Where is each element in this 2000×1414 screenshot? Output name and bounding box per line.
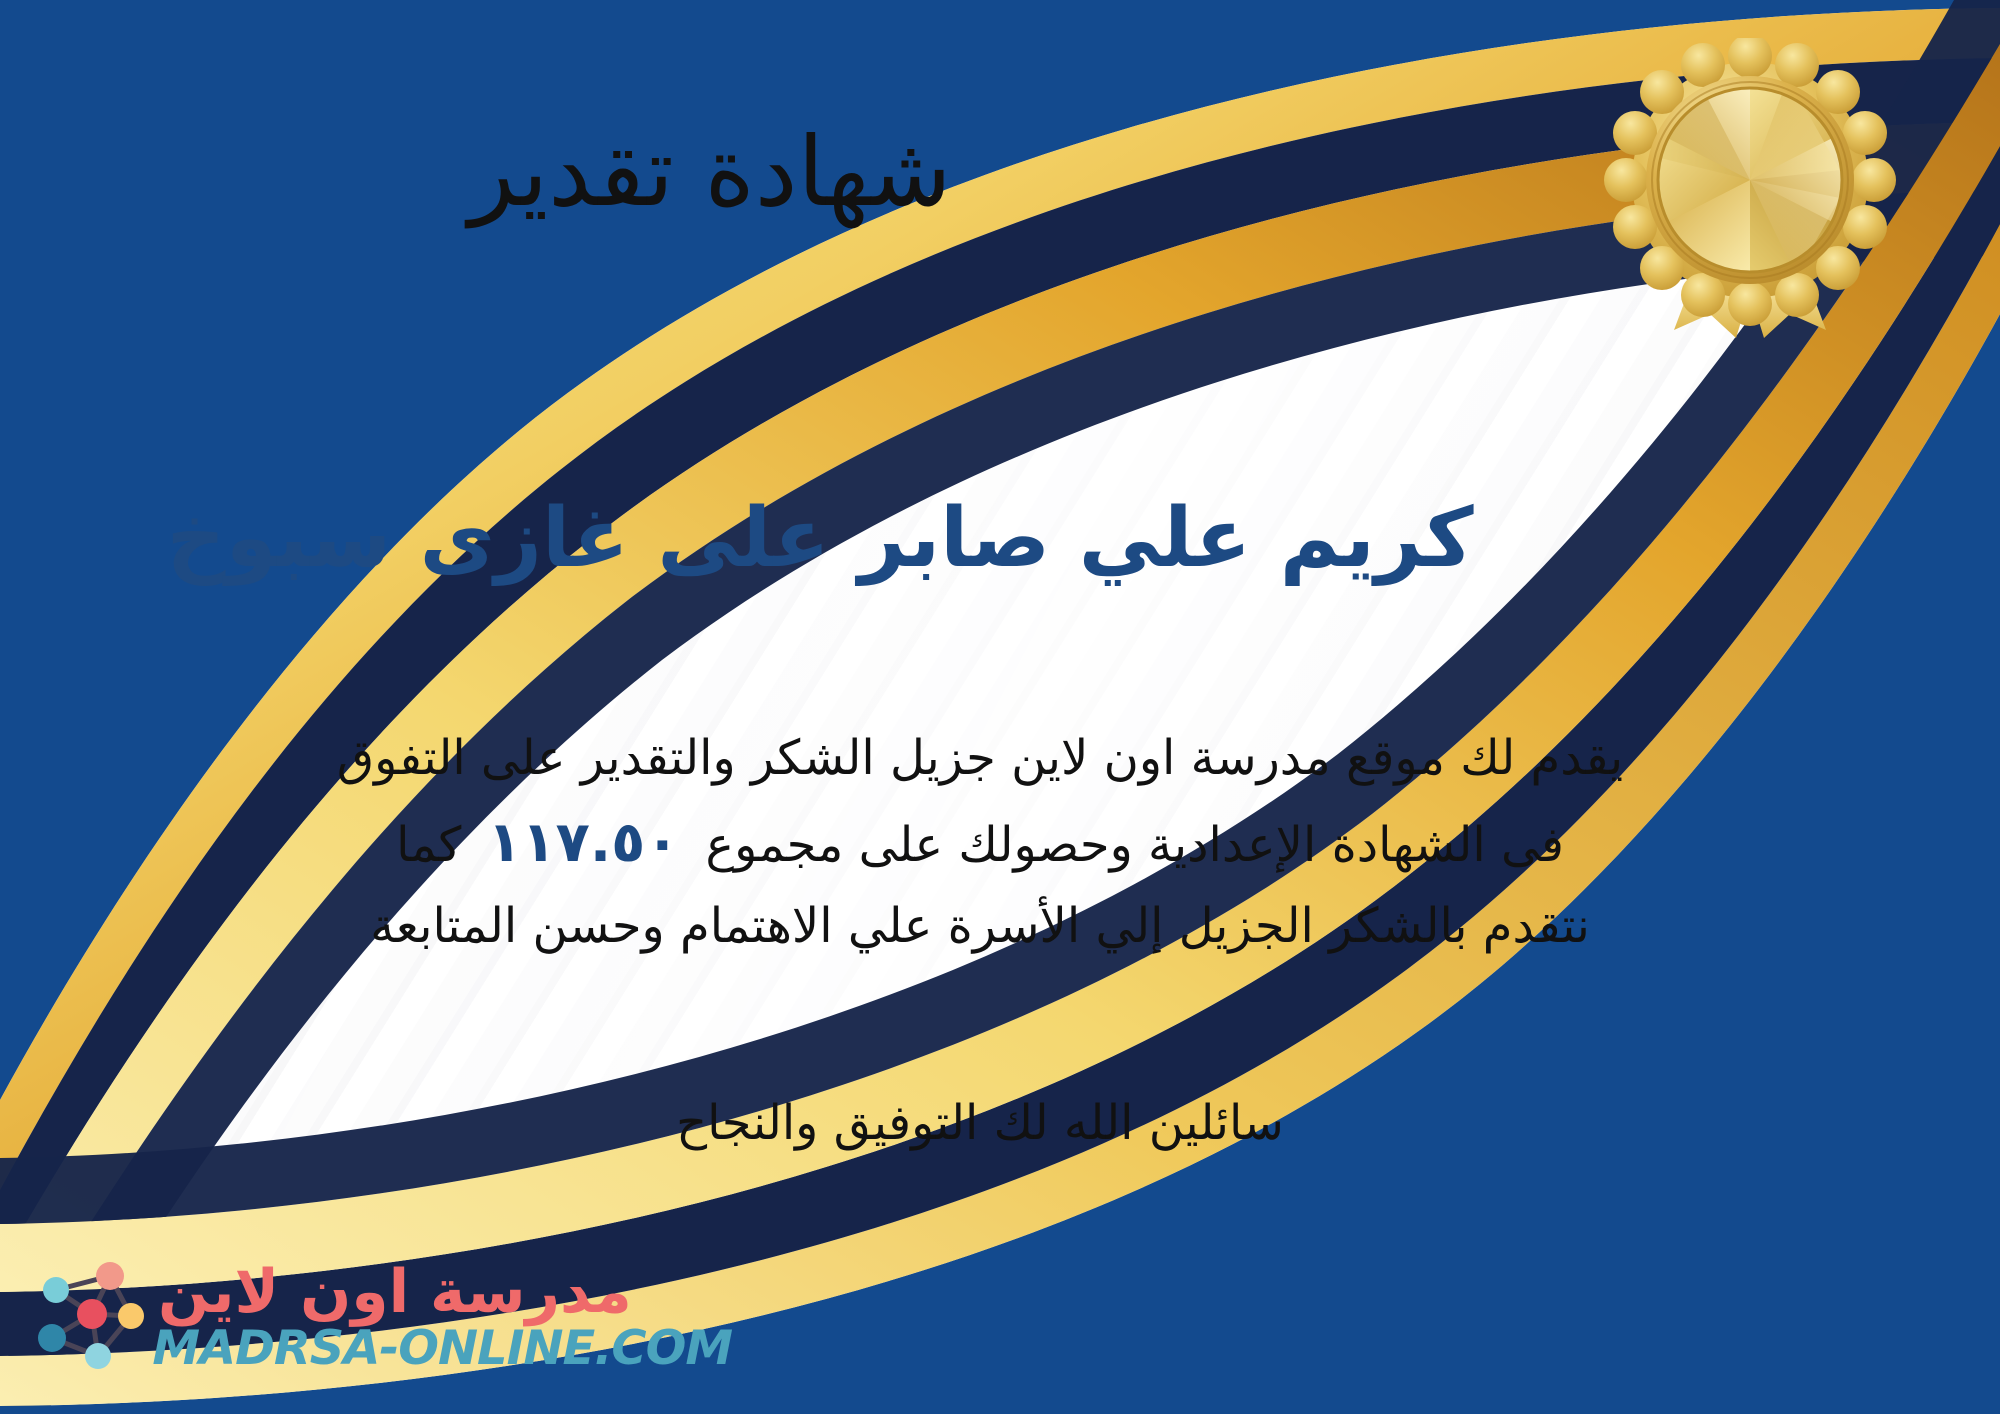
body-line-3: نتقدم بالشكر الجزيل إلي الأسرة علي الاهت… (40, 888, 1920, 966)
certificate-body: يقدم لك موقع مدرسة اون لاين جزيل الشكر و… (40, 720, 1920, 966)
body-line-1: يقدم لك موقع مدرسة اون لاين جزيل الشكر و… (40, 720, 1920, 798)
body-line-2-suffix: كما (396, 817, 461, 873)
logo-website-url: MADRSA-ONLINE.COM (152, 1324, 732, 1373)
site-logo[interactable]: مدرسة اون لاين MADRSA-ONLINE.COM (28, 1242, 548, 1392)
body-line-2: فى الشهادة الإعدادية وحصولك على مجموع١١٧… (40, 798, 1920, 889)
certificate-content: شهادة تقدير كريم علي صابر على غازى سبوخ … (0, 0, 2000, 1414)
logo-text-block: مدرسة اون لاين MADRSA-ONLINE.COM (158, 1261, 726, 1373)
page-title: شهادة تقدير (0, 120, 1420, 226)
recipient-name: كريم علي صابر على غازى سبوخ (0, 490, 1640, 588)
certificate-page: شهادة تقدير كريم علي صابر على غازى سبوخ … (0, 0, 2000, 1414)
network-nodes-icon (28, 1258, 146, 1376)
total-score-value: ١١٧.٥٠ (461, 810, 705, 875)
logo-arabic-name: مدرسة اون لاين (158, 1261, 632, 1324)
body-line-2-prefix: فى الشهادة الإعدادية وحصولك على مجموع (705, 817, 1563, 873)
closing-wish: سائلين الله لك التوفيق والنجاح (40, 1095, 1920, 1151)
